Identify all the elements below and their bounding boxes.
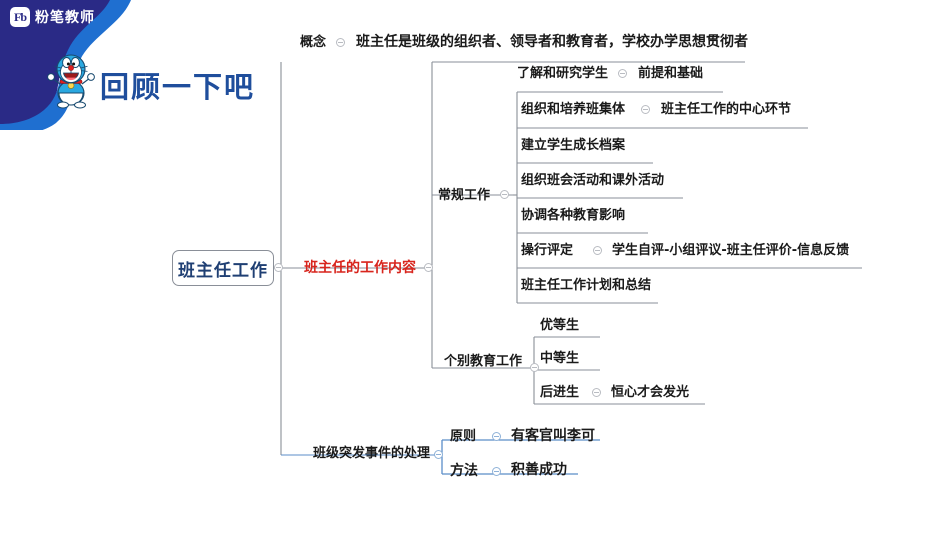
- root-label: 班主任工作: [178, 256, 268, 281]
- node-individual-education[interactable]: 个别教育工作: [444, 355, 522, 368]
- node-build-collective-detail[interactable]: 班主任工作的中心环节: [661, 103, 791, 116]
- toggle-principle[interactable]: [492, 432, 501, 441]
- toggle-work-content[interactable]: [424, 263, 433, 272]
- node-method[interactable]: 方法: [450, 464, 478, 478]
- node-underachiever[interactable]: 后进生: [540, 386, 579, 399]
- toggle-method[interactable]: [492, 467, 501, 476]
- node-class-activities[interactable]: 组织班会活动和课外活动: [521, 174, 664, 187]
- node-average-student[interactable]: 中等生: [540, 352, 579, 365]
- node-routine-work[interactable]: 常规工作: [438, 189, 490, 202]
- node-method-detail[interactable]: 积善成功: [511, 463, 567, 477]
- node-growth-file[interactable]: 建立学生成长档案: [521, 139, 625, 152]
- mindmap-canvas: 班主任工作 班主任的工作内容 概念 班主任是班级的组织者、领导者和教育者，学校办…: [0, 0, 950, 535]
- toggle-build-collective[interactable]: [641, 105, 650, 114]
- node-build-collective[interactable]: 组织和培养班集体: [521, 103, 625, 116]
- toggle-concept[interactable]: [336, 38, 345, 47]
- node-concept[interactable]: 概念: [300, 36, 326, 49]
- node-principle[interactable]: 原则: [450, 430, 476, 443]
- toggle-conduct-appraisal[interactable]: [593, 246, 602, 255]
- node-coordinate-influence[interactable]: 协调各种教育影响: [521, 209, 625, 222]
- toggle-routine-work[interactable]: [500, 190, 509, 199]
- node-conduct-appraisal[interactable]: 操行评定: [521, 244, 573, 257]
- toggle-emergency-handling[interactable]: [434, 450, 443, 459]
- root-collapse-toggle[interactable]: [274, 263, 283, 272]
- mindmap-root-node[interactable]: 班主任工作: [172, 250, 274, 286]
- mindmap-connector-lines: [0, 0, 950, 535]
- node-study-students[interactable]: 了解和研究学生: [517, 67, 608, 80]
- node-study-students-detail[interactable]: 前提和基础: [638, 67, 703, 80]
- node-principle-detail[interactable]: 有客官叫李可: [511, 429, 595, 443]
- node-conduct-appraisal-detail[interactable]: 学生自评-小组评议-班主任评价-信息反馈: [612, 244, 849, 257]
- node-underachiever-detail[interactable]: 恒心才会发光: [611, 386, 689, 399]
- toggle-individual-education[interactable]: [530, 363, 539, 372]
- node-plan-summary[interactable]: 班主任工作计划和总结: [521, 279, 651, 292]
- toggle-underachiever[interactable]: [592, 388, 601, 397]
- node-concept-detail[interactable]: 班主任是班级的组织者、领导者和教育者，学校办学思想贯彻者: [356, 35, 748, 49]
- toggle-study-students[interactable]: [618, 69, 627, 78]
- node-emergency-handling[interactable]: 班级突发事件的处理: [313, 447, 430, 460]
- node-top-student[interactable]: 优等生: [540, 319, 579, 332]
- node-work-content[interactable]: 班主任的工作内容: [304, 261, 416, 275]
